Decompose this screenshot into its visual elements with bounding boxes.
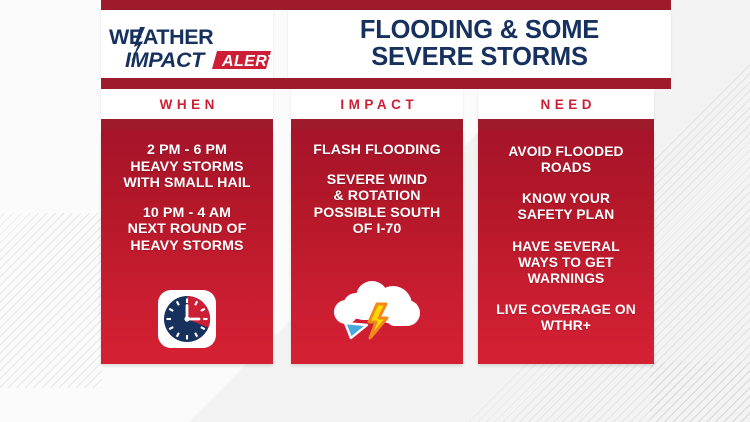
column-when-text: 2 PM - 6 PM HEAVY STORMS WITH SMALL HAIL… [101, 130, 273, 255]
need-block-4: LIVE COVERAGE ON WTHR+ [484, 302, 648, 334]
column-need-divider [478, 119, 654, 130]
when-block-2: 10 PM - 4 AM NEXT ROUND OF HEAVY STORMS [107, 205, 267, 255]
clock-icon [158, 290, 216, 348]
column-impact: IMPACT FLASH FLOODING SEVERE WIND & ROTA… [291, 89, 463, 364]
column-when-body: 2 PM - 6 PM HEAVY STORMS WITH SMALL HAIL… [101, 130, 273, 364]
column-impact-heading-label: IMPACT [336, 97, 418, 112]
column-impact-header: IMPACT [291, 89, 463, 119]
column-need: NEED AVOID FLOODED ROADS KNOW YOUR SAFET… [478, 89, 654, 364]
column-when: WHEN 2 PM - 6 PM HEAVY STORMS WITH SMALL… [101, 89, 273, 364]
logo-impact-text: IMPACT [125, 48, 206, 72]
page-title: FLOODING & SOME SEVERE STORMS [360, 17, 599, 72]
headline-panel: FLOODING & SOME SEVERE STORMS [288, 10, 671, 78]
column-impact-body: FLASH FLOODING SEVERE WIND & ROTATION PO… [291, 130, 463, 364]
column-need-header: NEED [478, 89, 654, 119]
column-when-header: WHEN [101, 89, 273, 119]
thunderstorm-icon [331, 280, 423, 342]
column-need-body: AVOID FLOODED ROADS KNOW YOUR SAFETY PLA… [478, 130, 654, 364]
thunderstorm-icon-wrapper [291, 280, 463, 342]
logo-artwork: WEATHER IMPACT ALERT [101, 10, 273, 78]
column-impact-divider [291, 119, 463, 130]
need-block-1: AVOID FLOODED ROADS [484, 144, 648, 176]
column-impact-text: FLASH FLOODING SEVERE WIND & ROTATION PO… [291, 130, 463, 238]
weather-impact-alert-logo: WEATHER IMPACT ALERT [101, 10, 273, 78]
rain-triangle-icon [345, 323, 367, 338]
need-block-3: HAVE SEVERAL WAYS TO GET WARNINGS [484, 239, 648, 287]
background-stripes-left [0, 213, 102, 388]
top-red-band [101, 0, 671, 10]
logo-weather-text: WEATHER [109, 25, 214, 49]
logo-alert-text: ALERT [221, 53, 273, 70]
background-stripes-bottom-right [460, 362, 750, 422]
need-block-2: KNOW YOUR SAFETY PLAN [484, 191, 648, 223]
impact-block-2: SEVERE WIND & ROTATION POSSIBLE SOUTH OF… [297, 172, 457, 238]
middle-red-band [101, 78, 671, 89]
column-when-divider [101, 119, 273, 130]
when-block-1: 2 PM - 6 PM HEAVY STORMS WITH SMALL HAIL [107, 142, 267, 192]
column-need-text: AVOID FLOODED ROADS KNOW YOUR SAFETY PLA… [478, 130, 654, 334]
weather-alert-graphic: WEATHER IMPACT ALERT FLOODING & SOME SEV… [101, 0, 671, 364]
clock-icon-wrapper [101, 290, 273, 348]
column-when-heading-label: WHEN [155, 97, 219, 112]
impact-block-1: FLASH FLOODING [297, 142, 457, 159]
column-need-heading-label: NEED [536, 97, 596, 112]
header-row: WEATHER IMPACT ALERT FLOODING & SOME SEV… [101, 10, 671, 78]
